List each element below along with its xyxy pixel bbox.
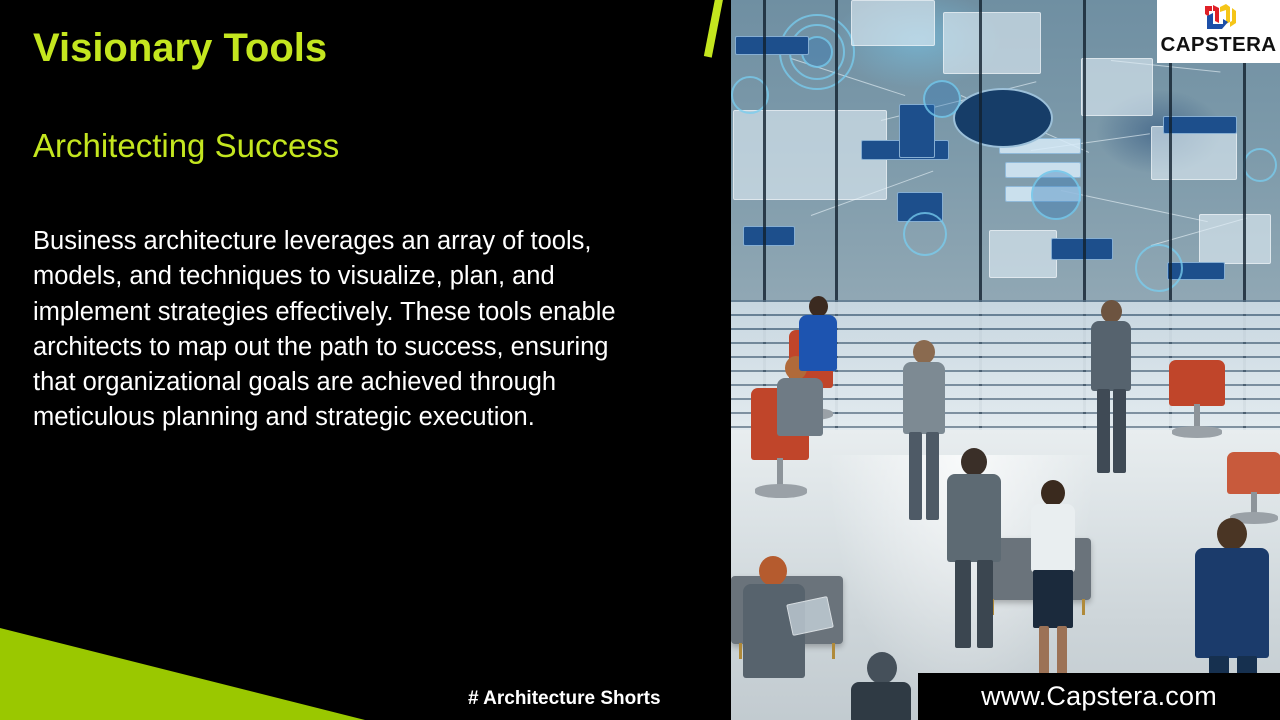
website-url-bar[interactable]: www.Capstera.com [918, 673, 1280, 720]
standing-presenter [897, 340, 949, 520]
brand-logo[interactable]: CAPSTERA [1157, 0, 1280, 63]
red-office-chair [1227, 452, 1280, 494]
page-subtitle: Architecting Success [33, 128, 339, 164]
capstera-cube-icon [1199, 3, 1239, 34]
standing-colleague [1087, 300, 1135, 472]
website-url-text: www.Capstera.com [981, 681, 1217, 712]
seated-man-foreground [849, 652, 913, 720]
green-wedge-decoration [0, 628, 365, 720]
red-office-chair [1169, 360, 1225, 406]
hashtag-label: # Architecture Shorts [468, 688, 661, 710]
text-panel: Visionary Tools Architecting Success Bus… [0, 0, 731, 720]
slide-canvas: Visionary Tools Architecting Success Bus… [0, 0, 1280, 720]
standing-woman [1025, 480, 1079, 680]
hero-image [731, 0, 1280, 720]
page-title: Visionary Tools [33, 26, 327, 70]
brand-wordmark: CAPSTERA [1161, 35, 1277, 56]
body-paragraph: Business architecture leverages an array… [33, 224, 658, 436]
standing-colleague-back [943, 448, 1005, 646]
woman-with-tablet [739, 556, 811, 720]
green-accent-stroke [704, 0, 724, 58]
seated-colleague-blue [797, 296, 841, 388]
